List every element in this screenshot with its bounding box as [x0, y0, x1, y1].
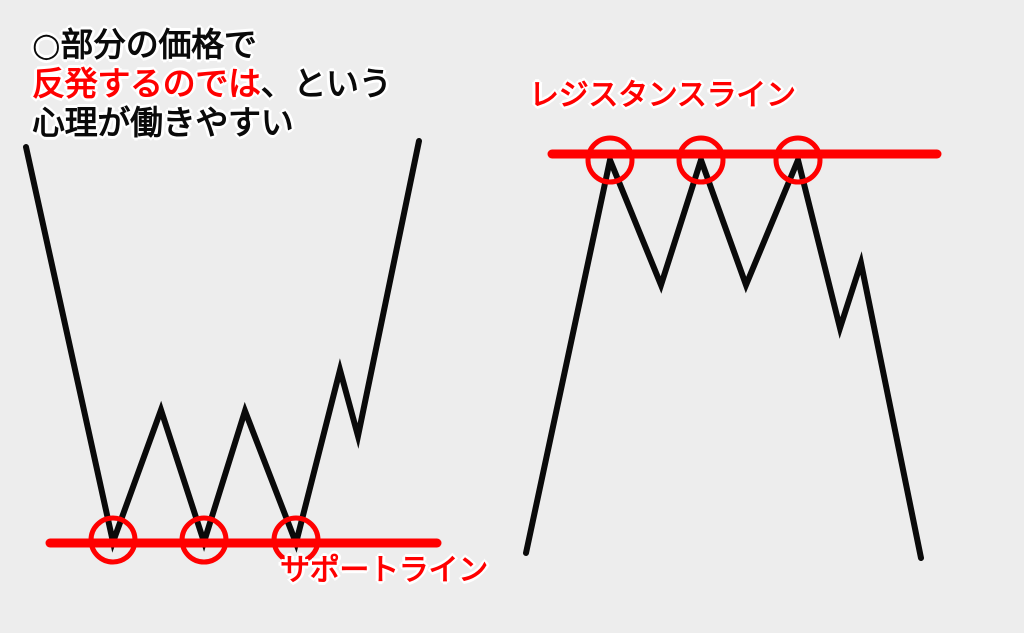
diagram-canvas: ○部分の価格で 反発するのでは、という 心理が働きやすい サポートライン レジス… — [0, 0, 1024, 633]
resistance-price-path — [526, 160, 921, 558]
support-line-label: サポートライン — [280, 553, 488, 588]
psychology-annotation: ○部分の価格で 反発するのでは、という 心理が働きやすい — [32, 26, 391, 143]
annotation-line-1: ○部分の価格で — [32, 26, 391, 65]
annotation-line-2: 反発するのでは、という — [32, 65, 391, 104]
support-line-chart — [26, 141, 437, 562]
resistance-line-label: レジスタンスライン — [529, 78, 796, 113]
annotation-line-2-highlight: 反発するのでは — [32, 64, 261, 103]
resistance-line-chart — [526, 138, 937, 558]
support-price-path — [26, 141, 419, 543]
annotation-line-3-text: 心理が働きやすい — [32, 103, 293, 142]
annotation-line-2-tail: 、という — [261, 64, 392, 103]
annotation-line-3: 心理が働きやすい — [32, 104, 391, 143]
annotation-line-1-text: ○部分の価格で — [32, 25, 257, 64]
